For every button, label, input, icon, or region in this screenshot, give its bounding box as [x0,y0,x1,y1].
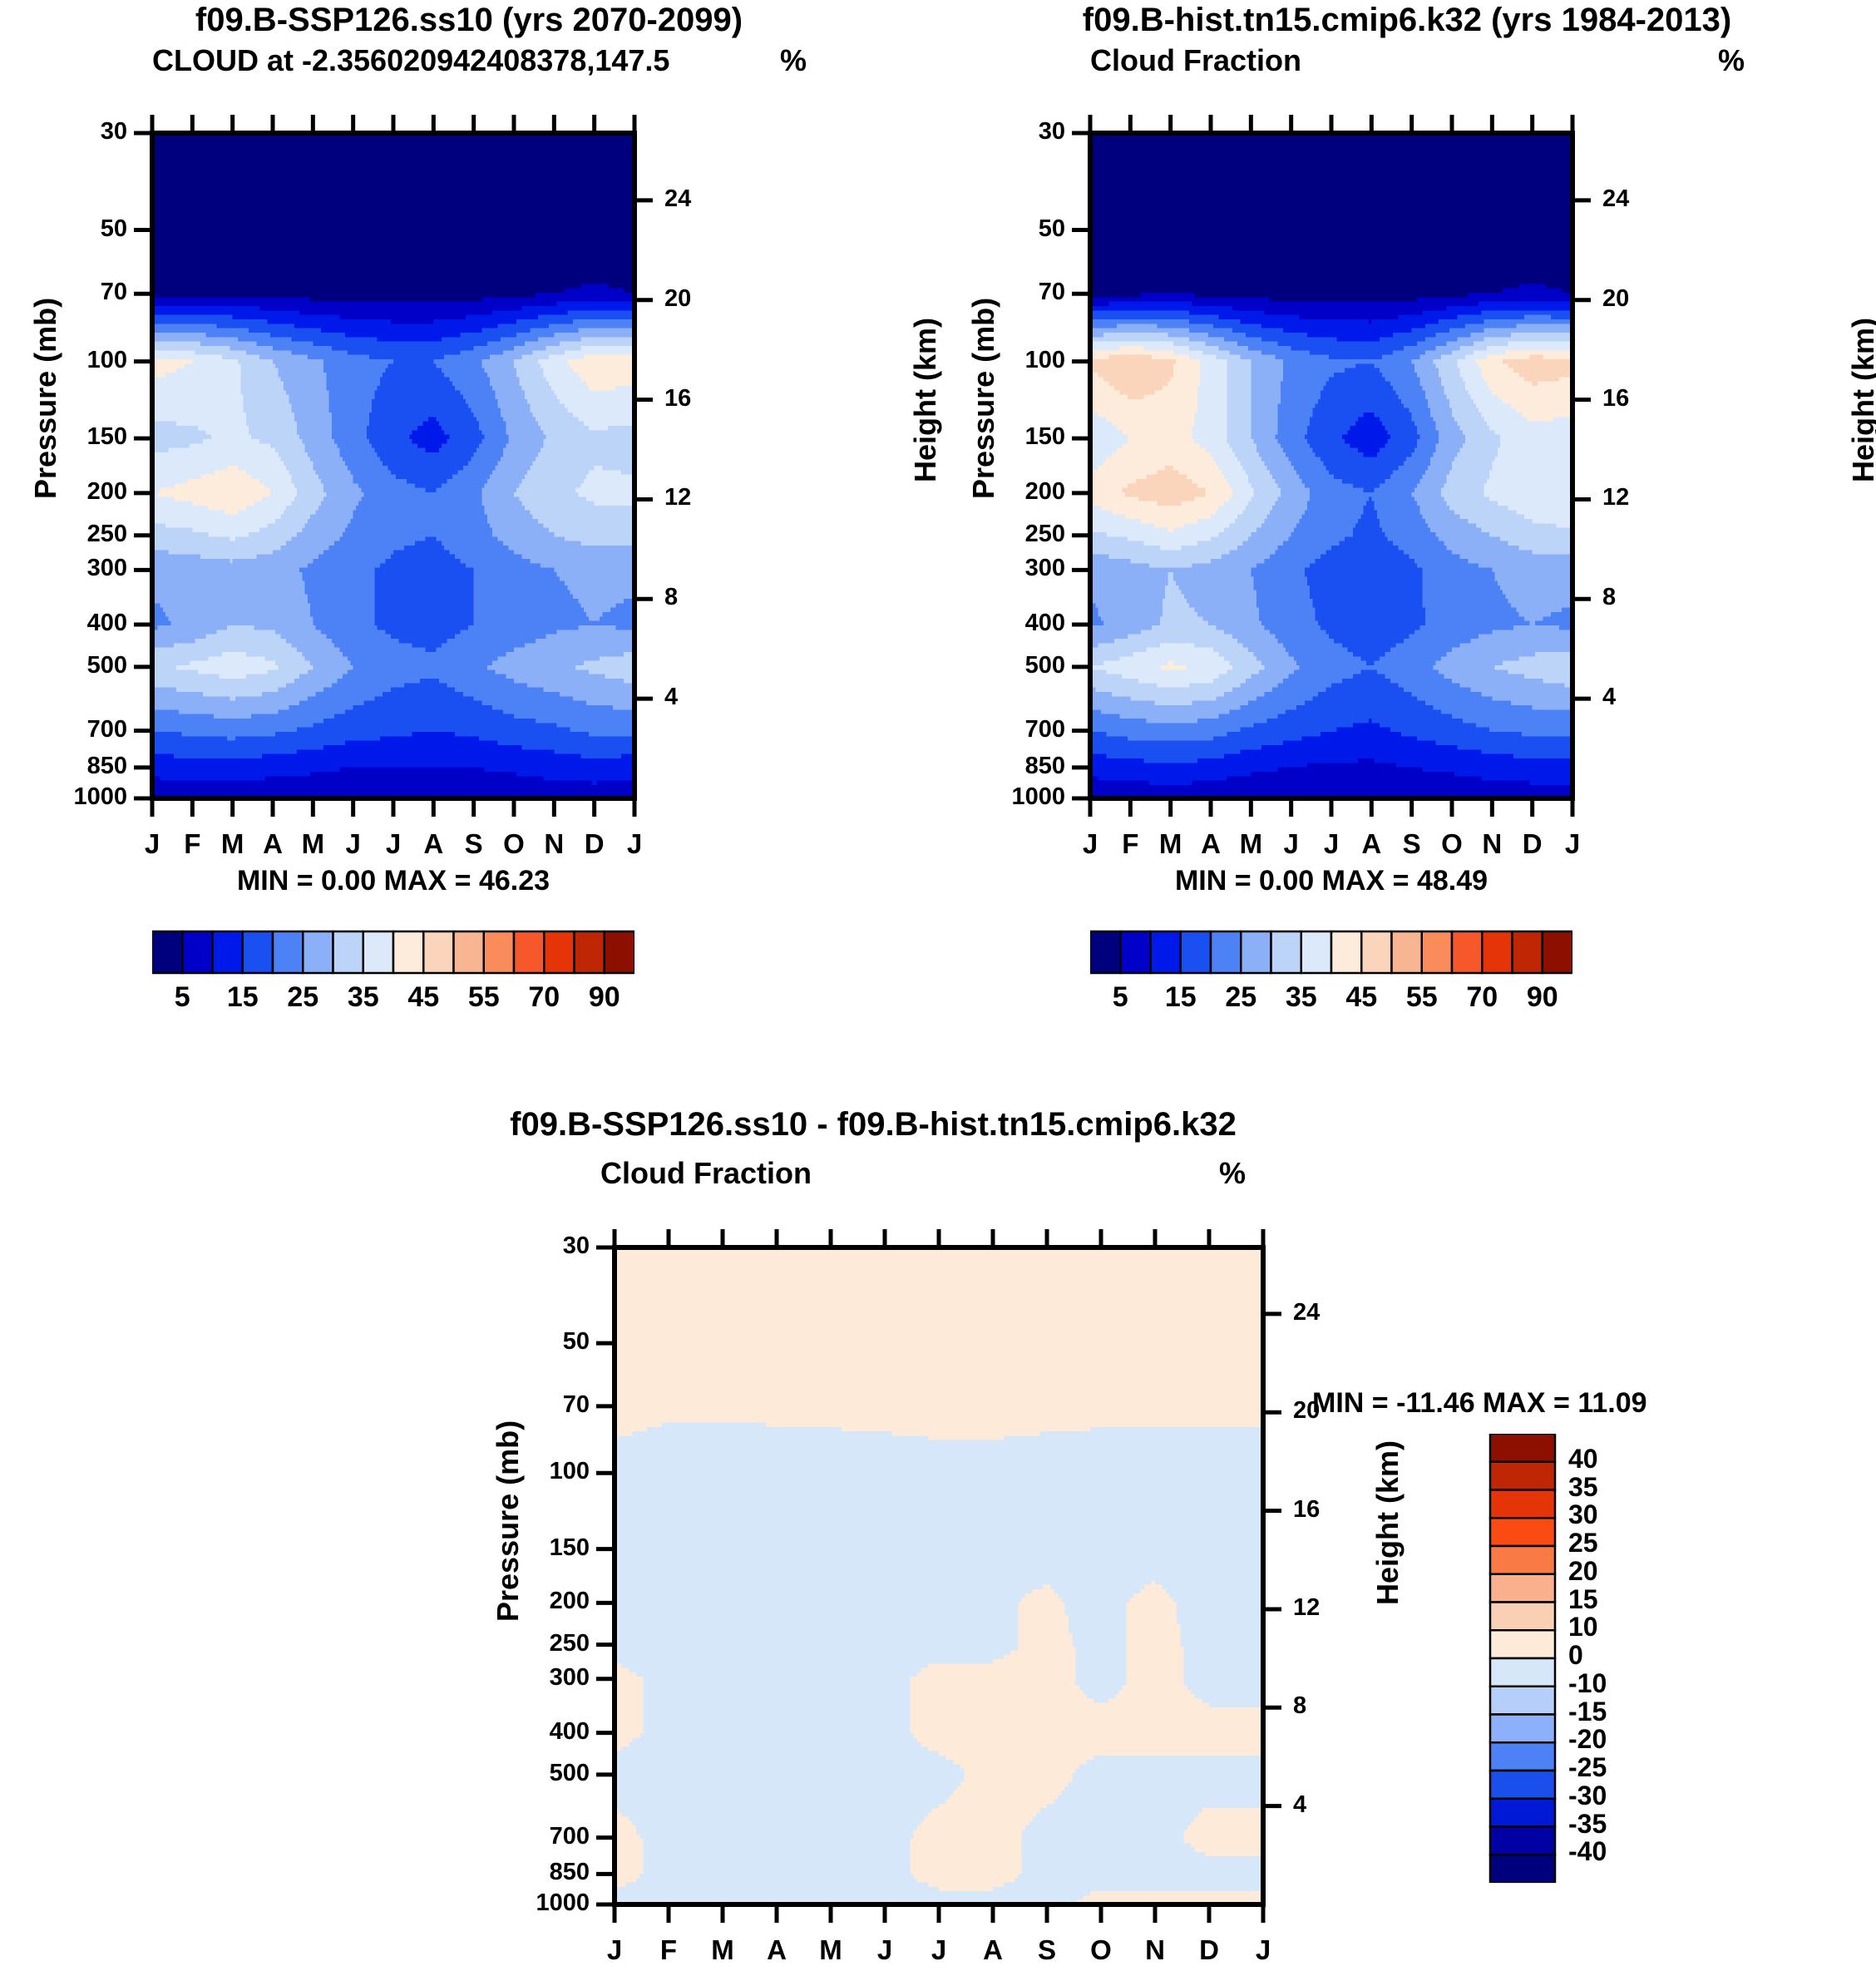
colorbar-cell [1090,931,1120,973]
colorbar-tick-label: 20 [1568,1556,1598,1587]
month-tick-label: M [806,1934,856,1966]
month-tick-label: J [1238,1934,1288,1966]
month-tick-label: O [1076,1934,1126,1966]
pressure-tick-label: 1000 [974,783,1065,811]
height-tick-label: 12 [1293,1594,1320,1622]
pressure-tick-label: 150 [498,1534,590,1562]
panel-hist-colorbar-labels: 515253545557090 [1090,981,1572,1020]
colorbar-cell [1490,1434,1555,1462]
colorbar-cell [1490,1630,1555,1658]
colorbar-cell [1241,931,1271,973]
height-tick-label: 12 [1602,484,1629,511]
colorbar-tick-label: -35 [1568,1809,1607,1840]
month-tick-label: M [698,1934,748,1966]
month-tick-label: J [860,1934,910,1966]
colorbar-cell [273,931,303,973]
height-tick-label: 20 [1293,1397,1320,1425]
pressure-tick-label: 50 [974,215,1065,243]
height-tick-label: 12 [664,484,691,511]
pressure-tick-label: 50 [36,215,127,243]
colorbar-cell [1482,931,1512,973]
pressure-tick-label: 50 [498,1328,590,1356]
pressure-tick-label: 300 [974,555,1065,582]
pressure-tick-label: 250 [36,521,127,548]
colorbar-cell [393,931,423,973]
colorbar-cell [1490,1771,1555,1799]
pressure-tick-label: 400 [36,610,127,637]
panel-hist-plot[interactable] [938,0,1876,915]
pressure-tick-label: 150 [974,423,1065,451]
colorbar-cell [1181,931,1211,973]
colorbar-tick-label: 90 [1505,981,1580,1014]
colorbar-cell [1331,931,1361,973]
month-tick-label: J [1548,828,1597,860]
pressure-tick-label: 700 [498,1823,590,1850]
colorbar-tick-label: 30 [1568,1499,1598,1530]
colorbar-tick-label: 35 [1568,1472,1598,1503]
colorbar-tick-label: 25 [1568,1528,1598,1558]
colorbar-cell [1490,1658,1555,1687]
colorbar-cell [1490,1799,1555,1827]
colorbar-cell [1422,931,1452,973]
pressure-tick-label: 30 [974,118,1065,146]
month-tick-label: J [914,1934,964,1966]
panel-ssp126-plot[interactable] [0,0,938,915]
height-tick-label: 24 [664,185,691,213]
pressure-tick-label: 70 [498,1391,590,1419]
height-tick-label: 4 [1602,684,1616,711]
month-tick-label: A [752,1934,802,1966]
colorbar-cell [303,931,333,973]
panel-difference-colorbar[interactable] [1488,1434,1558,1883]
pressure-tick-label: 300 [498,1664,590,1692]
height-tick-label: 4 [1293,1791,1306,1819]
colorbar-tick-label: 90 [567,981,642,1014]
colorbar-cell [1490,1603,1555,1631]
colorbar-cell [1301,931,1331,973]
panel-hist-colorbar[interactable] [1090,930,1572,976]
colorbar-cell [1151,931,1181,973]
month-tick-label: D [1184,1934,1234,1966]
pressure-tick-label: 500 [498,1760,590,1787]
pressure-tick-label: 850 [974,753,1065,780]
pressure-tick-label: 1000 [498,1889,590,1917]
colorbar-tick-label: 0 [1568,1640,1583,1671]
month-tick-label: S [1022,1934,1072,1966]
pressure-tick-label: 500 [974,652,1065,679]
colorbar-tick-label: -10 [1568,1668,1607,1699]
colorbar-cell [1513,931,1543,973]
pressure-tick-label: 850 [498,1859,590,1886]
panel-hist-minmax: MIN = 0.00 MAX = 48.49 [938,865,1725,897]
pressure-tick-label: 1000 [36,783,127,811]
pressure-tick-label: 100 [974,347,1065,374]
pressure-tick-label: 30 [36,118,127,146]
pressure-tick-label: 200 [974,478,1065,506]
pressure-tick-label: 150 [36,423,127,451]
colorbar-tick-label: 40 [1568,1444,1598,1474]
colorbar-cell [454,931,484,973]
colorbar-cell [1490,1827,1555,1855]
colorbar-cell [575,931,605,973]
colorbar-cell [1211,931,1241,973]
colorbar-cell [1543,931,1572,973]
height-tick-label: 16 [1293,1496,1320,1524]
pressure-tick-label: 200 [498,1588,590,1615]
colorbar-cell [423,931,453,973]
pressure-tick-label: 100 [36,347,127,374]
colorbar-cell [605,931,634,973]
pressure-tick-label: 30 [498,1232,590,1260]
colorbar-cell [1490,1715,1555,1743]
colorbar-cell [1490,1546,1555,1574]
pressure-tick-label: 250 [498,1630,590,1657]
colorbar-cell [333,931,363,973]
pressure-tick-label: 850 [36,753,127,780]
pressure-tick-label: 700 [974,716,1065,743]
panel-ssp126-minmax: MIN = 0.00 MAX = 46.23 [0,865,787,897]
colorbar-cell [1490,1574,1555,1603]
height-tick-label: 20 [1602,285,1629,313]
colorbar-cell [363,931,393,973]
panel-hist: f09.B-hist.tn15.cmip6.k32 (yrs 1984-2013… [938,0,1876,1031]
height-tick-label: 20 [664,285,691,313]
colorbar-tick-label: 15 [1568,1584,1598,1615]
colorbar-cell [213,931,243,973]
colorbar-tick-label: -25 [1568,1752,1607,1783]
colorbar-cell [484,931,514,973]
pressure-tick-label: 700 [36,716,127,743]
height-tick-label: 24 [1293,1299,1320,1326]
pressure-tick-label: 300 [36,555,127,582]
height-tick-label: 8 [664,584,678,611]
month-tick-label: J [610,828,659,860]
colorbar-cell [1361,931,1391,973]
height-tick-label: 4 [664,684,678,711]
colorbar-cell [1392,931,1422,973]
colorbar-cell [1490,1687,1555,1715]
colorbar-cell [1271,931,1301,973]
colorbar-cell [1120,931,1150,973]
panel-ssp126-colorbar[interactable] [152,930,634,976]
colorbar-tick-label: 10 [1568,1612,1598,1642]
height-tick-label: 16 [664,385,691,412]
height-tick-label: 8 [1602,584,1616,611]
pressure-tick-label: 500 [36,652,127,679]
colorbar-tick-label: -15 [1568,1697,1607,1727]
pressure-tick-label: 250 [974,521,1065,548]
colorbar-cell [544,931,574,973]
colorbar-cell [1490,1490,1555,1519]
pressure-tick-label: 200 [36,478,127,506]
pressure-tick-label: 400 [498,1718,590,1746]
colorbar-cell [152,931,182,973]
height-tick-label: 8 [1293,1692,1306,1720]
height-tick-label: 24 [1602,185,1629,213]
month-tick-label: F [644,1934,694,1966]
colorbar-cell [1490,1742,1555,1771]
panel-difference-minmax: MIN = -11.46 MAX = 11.09 [1312,1387,1647,1420]
colorbar-cell [182,931,212,973]
colorbar-cell [514,931,544,973]
panel-difference: f09.B-SSP126.ss10 - f09.B-hist.tn15.cmip… [0,1106,1876,1961]
height-tick-label: 16 [1602,385,1629,412]
month-tick-label: A [968,1934,1018,1966]
pressure-tick-label: 70 [36,279,127,306]
pressure-tick-label: 70 [974,279,1065,306]
colorbar-cell [1490,1855,1555,1883]
panel-difference-colorbar-labels: 403530252015100-10-15-20-25-30-35-40 [1568,1434,1718,1883]
pressure-tick-label: 400 [974,610,1065,637]
colorbar-cell [243,931,273,973]
panel-ssp126-colorbar-labels: 515253545557090 [152,981,634,1020]
pressure-tick-label: 100 [498,1458,590,1485]
colorbar-cell [1490,1462,1555,1490]
colorbar-tick-label: -20 [1568,1724,1607,1755]
month-tick-label: N [1130,1934,1180,1966]
colorbar-tick-label: -40 [1568,1836,1607,1867]
colorbar-cell [1452,931,1482,973]
colorbar-tick-label: -30 [1568,1781,1607,1811]
month-tick-label: J [590,1934,639,1966]
colorbar-cell [1490,1518,1555,1546]
panel-ssp126: f09.B-SSP126.ss10 (yrs 2070-2099) CLOUD … [0,0,938,1031]
